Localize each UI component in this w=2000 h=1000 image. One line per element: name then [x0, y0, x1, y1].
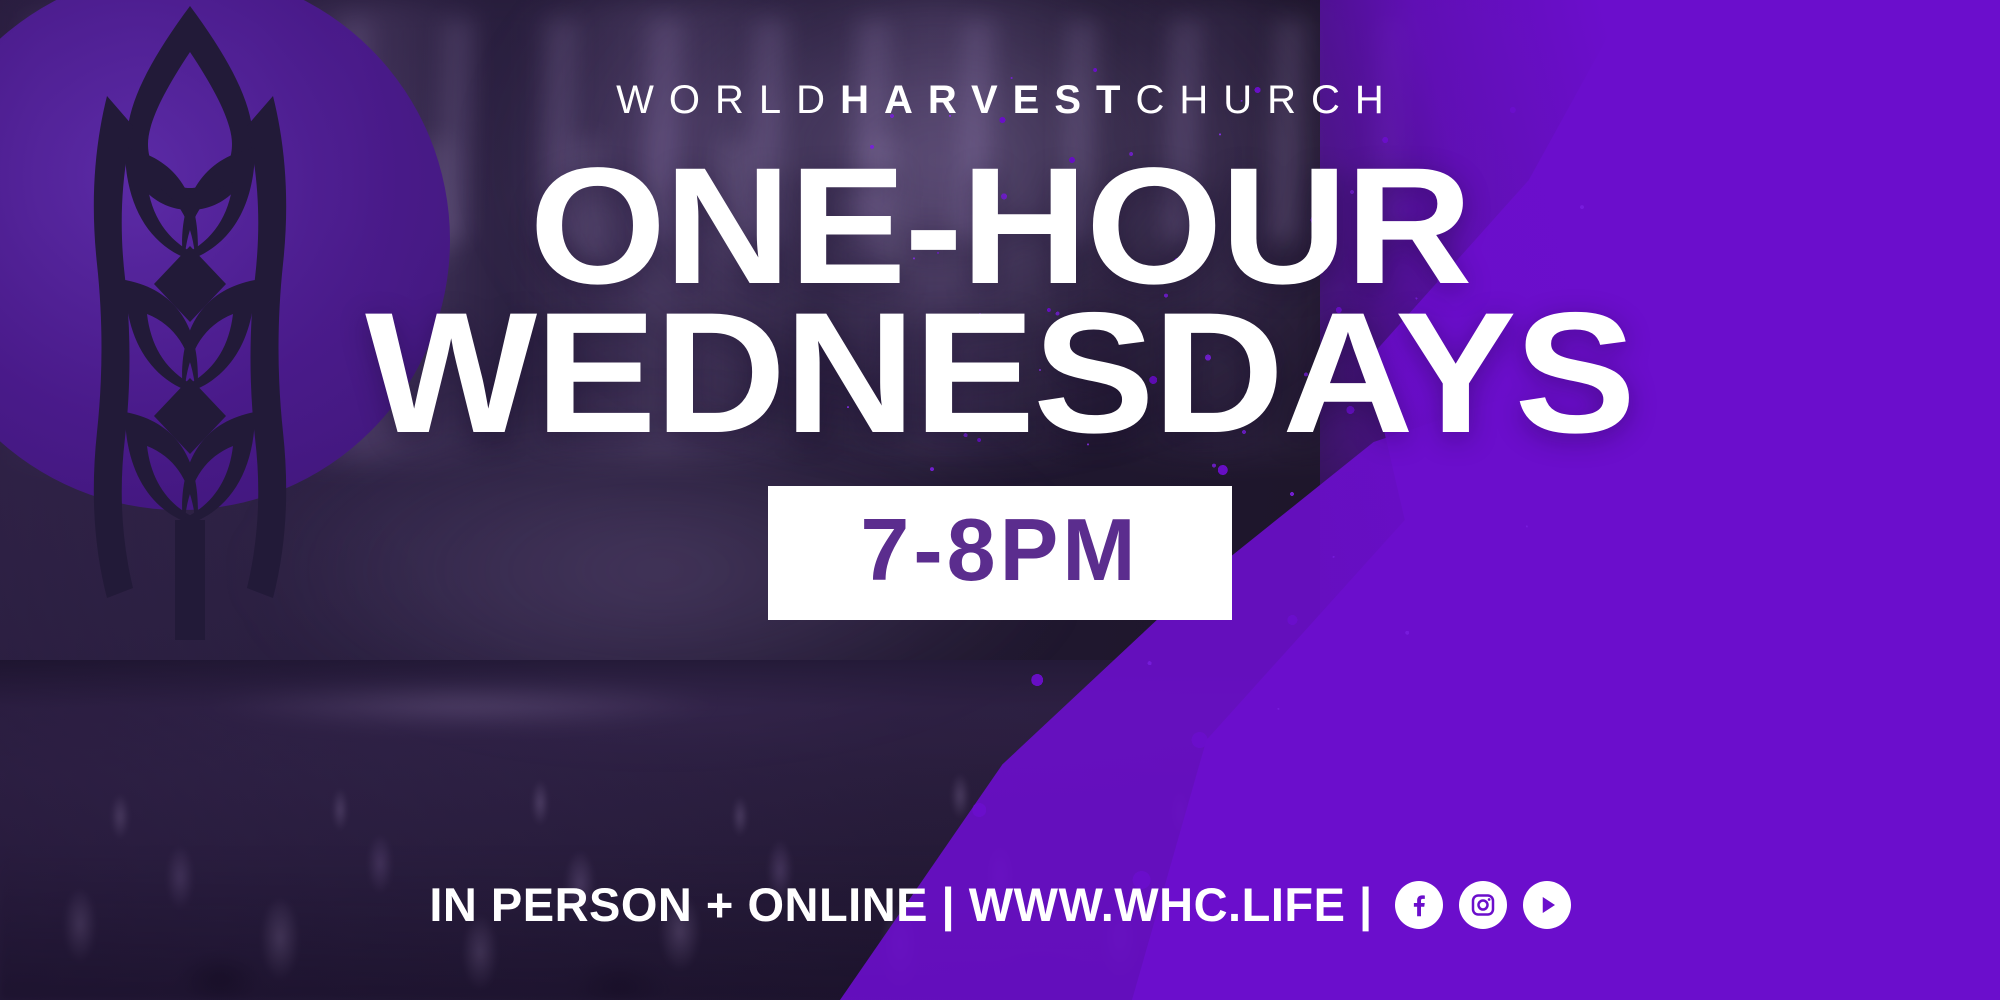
social-links: [1395, 881, 1571, 929]
brand-word-harvest: HARVEST: [840, 78, 1135, 122]
play-video-icon[interactable]: [1523, 881, 1571, 929]
brand-eyebrow: WORLDHARVESTCHURCH: [601, 78, 1399, 123]
instagram-icon[interactable]: [1459, 881, 1507, 929]
footer-info-text: IN PERSON + ONLINE | WWW.WHC.LIFE |: [429, 877, 1372, 932]
time-badge-label: 7-8PM: [860, 506, 1139, 594]
brand-word-church: CHURCH: [1135, 78, 1398, 122]
brand-word-world: WORLD: [616, 78, 840, 122]
footer-bar: IN PERSON + ONLINE | WWW.WHC.LIFE |: [0, 877, 2000, 932]
banner-content: WORLDHARVESTCHURCH ONE-HOUR WEDNESDAYS 7…: [0, 0, 2000, 1000]
promo-banner: WORLDHARVESTCHURCH ONE-HOUR WEDNESDAYS 7…: [0, 0, 2000, 1000]
facebook-icon[interactable]: [1395, 881, 1443, 929]
headline-line-2: WEDNESDAYS: [366, 294, 1635, 452]
time-badge: 7-8PM: [768, 486, 1231, 620]
